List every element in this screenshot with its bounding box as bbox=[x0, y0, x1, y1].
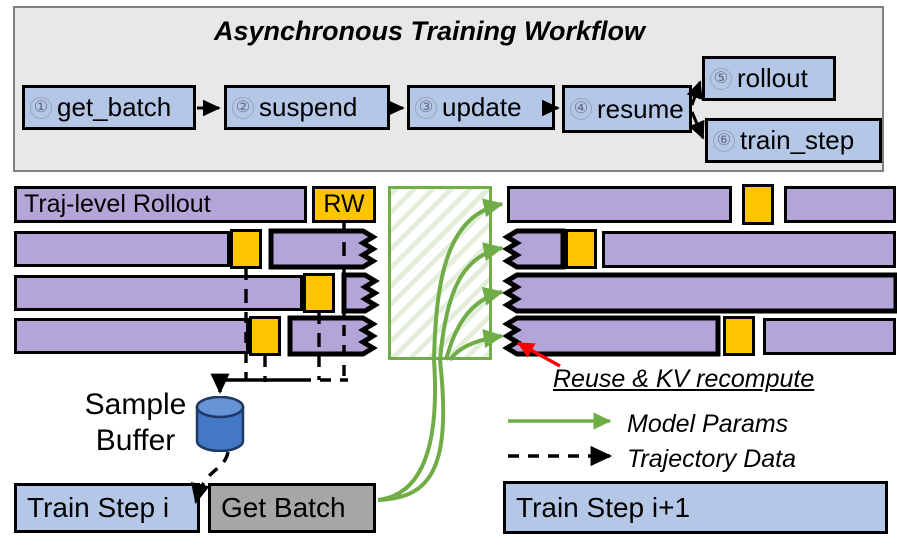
step-number-2: ② bbox=[232, 97, 254, 119]
step-label-get-batch: get_batch bbox=[57, 92, 171, 123]
rollout2-bar-row1-reward bbox=[742, 184, 774, 225]
rollout2-bar-row4-a bbox=[503, 318, 718, 354]
hatch-pattern bbox=[391, 189, 489, 357]
step-label-update: update bbox=[442, 92, 522, 123]
legend-trajectory-data-label: Trajectory Data bbox=[627, 445, 796, 474]
rollout-bar-row3-a bbox=[14, 275, 303, 311]
step-label-rollout: rollout bbox=[737, 63, 808, 94]
rollout-bar-row2-reward bbox=[230, 229, 262, 269]
workflow-step-suspend[interactable]: ② suspend bbox=[224, 85, 390, 130]
rollout2-bar-row1-b bbox=[784, 186, 896, 223]
rollout-bar-row3-b bbox=[344, 275, 380, 311]
rollout2-bar-row3 bbox=[503, 275, 896, 311]
workflow-step-get-batch[interactable]: ① get_batch bbox=[22, 85, 196, 130]
rollout-bar-row2-a bbox=[14, 231, 230, 267]
get-batch-box[interactable]: Get Batch bbox=[208, 483, 376, 533]
sample-buffer-cylinder bbox=[194, 396, 246, 457]
step-number-4: ④ bbox=[570, 98, 592, 120]
step-number-5: ⑤ bbox=[710, 68, 732, 90]
step-number-1: ① bbox=[30, 97, 52, 119]
rollout-bar-row4-reward bbox=[249, 316, 281, 356]
param-sync-region bbox=[388, 186, 492, 360]
workflow-step-rollout[interactable]: ⑤ rollout bbox=[702, 56, 836, 101]
step-label-suspend: suspend bbox=[259, 92, 357, 123]
reuse-kv-annotation: Reuse & KV recompute bbox=[553, 365, 814, 394]
rollout-bar-row1-rw: RW bbox=[312, 186, 376, 223]
rollout-bar-row1-main: Traj-level Rollout bbox=[14, 186, 307, 223]
workflow-step-train-step[interactable]: ⑥ train_step bbox=[705, 118, 882, 163]
diagram-canvas: Asynchronous Training Workflow ① get_bat… bbox=[0, 0, 897, 553]
sample-buffer-label-line2: Buffer bbox=[78, 424, 193, 458]
legend-model-params-label: Model Params bbox=[627, 410, 788, 439]
train-step-i-plus-1-box[interactable]: Train Step i+1 bbox=[503, 481, 888, 534]
rollout2-bar-row2-reward bbox=[565, 229, 597, 269]
sample-buffer-label-line1: Sample bbox=[78, 388, 193, 422]
train-step-i-box[interactable]: Train Step i bbox=[14, 483, 200, 533]
rollout2-bar-row2-a bbox=[503, 231, 563, 267]
rollout2-bar-row2-b bbox=[602, 231, 896, 268]
rollout2-bar-row4-reward bbox=[723, 316, 755, 356]
rollout-bar-row2-b bbox=[271, 231, 378, 267]
model-param-curves bbox=[378, 360, 443, 500]
workflow-step-update[interactable]: ③ update bbox=[407, 85, 555, 130]
workflow-step-resume[interactable]: ④ resume bbox=[562, 85, 692, 133]
rollout2-bar-row4-b bbox=[763, 318, 896, 355]
step-label-train-step: train_step bbox=[740, 125, 854, 156]
step-number-3: ③ bbox=[415, 97, 437, 119]
workflow-panel-title: Asynchronous Training Workflow bbox=[214, 16, 645, 47]
rollout-bar-row4-b bbox=[290, 318, 378, 354]
step-number-6: ⑥ bbox=[713, 130, 735, 152]
rollout2-bar-row1-a bbox=[507, 186, 732, 223]
rollout-bar-row3-reward bbox=[303, 273, 335, 313]
rollout-bar-row4-a bbox=[14, 318, 249, 354]
step-label-resume: resume bbox=[597, 94, 684, 125]
